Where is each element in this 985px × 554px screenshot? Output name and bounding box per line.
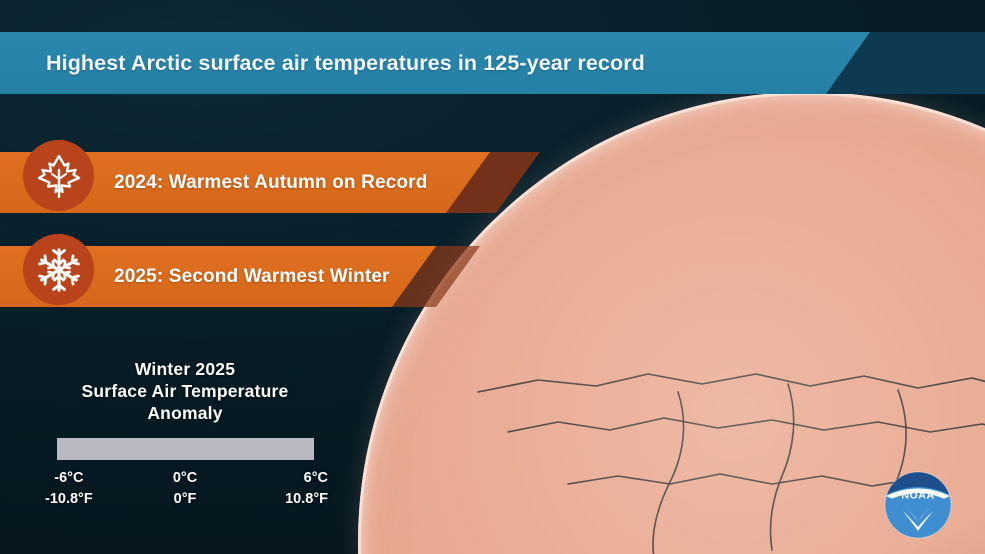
- title-banner: Highest Arctic surface air temperatures …: [0, 32, 870, 94]
- legend-title-line-1: Winter 2025: [30, 358, 340, 380]
- legend: Winter 2025 Surface Air Temperature Anom…: [30, 358, 340, 514]
- legend-title: Winter 2025 Surface Air Temperature Anom…: [30, 358, 340, 424]
- temperature-colorbar: [57, 438, 314, 460]
- colorbar-tick-high-celsius: 6°C: [285, 468, 328, 489]
- maple-leaf-icon: [23, 140, 94, 211]
- fact-label-autumn: 2024: Warmest Autumn on Record: [114, 152, 427, 213]
- snowflake-icon: [23, 234, 94, 305]
- colorbar-tick-labels: -6°C -10.8°F 0°C 0°F 6°C 10.8°F: [40, 468, 330, 514]
- noaa-logo: NOAA: [883, 470, 953, 540]
- screenshot-root: Highest Arctic surface air temperatures …: [0, 0, 985, 554]
- colorbar-tick-mid-fahrenheit: 0°F: [173, 489, 197, 510]
- fact-row-autumn: 2024: Warmest Autumn on Record: [0, 152, 540, 213]
- colorbar-tick-low-fahrenheit: -10.8°F: [45, 489, 93, 510]
- page-title: Highest Arctic surface air temperatures …: [46, 51, 645, 76]
- legend-title-line-2: Surface Air Temperature: [30, 380, 340, 402]
- colorbar-tick-mid: 0°C 0°F: [173, 468, 197, 510]
- fact-row-winter: 2025: Second Warmest Winter: [0, 246, 480, 307]
- legend-title-line-3: Anomaly: [30, 402, 340, 424]
- colorbar-tick-low: -6°C -10.8°F: [45, 468, 93, 510]
- colorbar-tick-mid-celsius: 0°C: [173, 468, 197, 489]
- noaa-logo-text: NOAA: [901, 490, 934, 502]
- fact-label-winter: 2025: Second Warmest Winter: [114, 246, 390, 307]
- colorbar-tick-high-fahrenheit: 10.8°F: [285, 489, 328, 510]
- colorbar-tick-high: 6°C 10.8°F: [285, 468, 328, 510]
- colorbar-tick-low-celsius: -6°C: [45, 468, 93, 489]
